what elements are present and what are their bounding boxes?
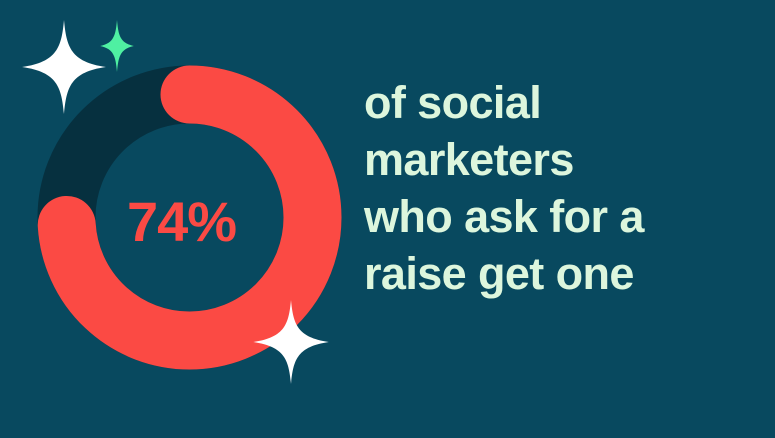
infographic-canvas: 74% of social marketers who ask for a ra… (0, 0, 775, 438)
headline-line-1: of social (364, 74, 764, 131)
headline-block: of social marketers who ask for a raise … (364, 74, 764, 302)
donut-chart-svg (27, 55, 352, 380)
headline-line-3: who ask for a (364, 188, 764, 245)
headline-line-4: raise get one (364, 245, 764, 302)
headline-line-2: marketers (364, 131, 764, 188)
donut-chart: 74% (27, 55, 352, 380)
